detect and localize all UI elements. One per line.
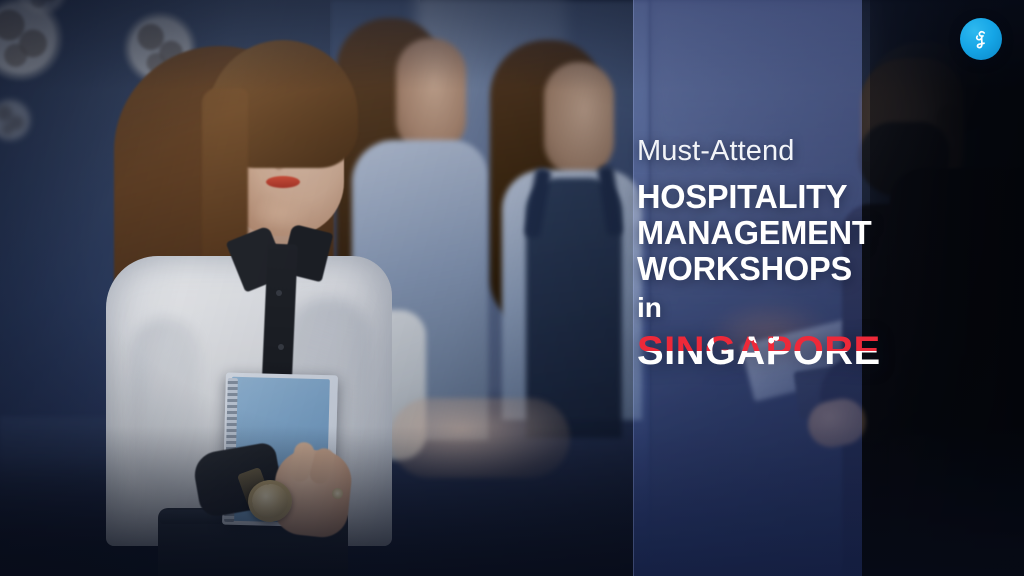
headline-panel-edge [633,0,634,576]
headline-overlay-panel [633,0,862,576]
banner-image: Must-Attend HOSPITALITY MANAGEMENT WORKS… [0,0,1024,576]
brand-g-glyph-icon [969,27,993,51]
photo-scene [0,0,1024,576]
vignette [0,0,1024,576]
brand-logo[interactable] [960,18,1002,60]
